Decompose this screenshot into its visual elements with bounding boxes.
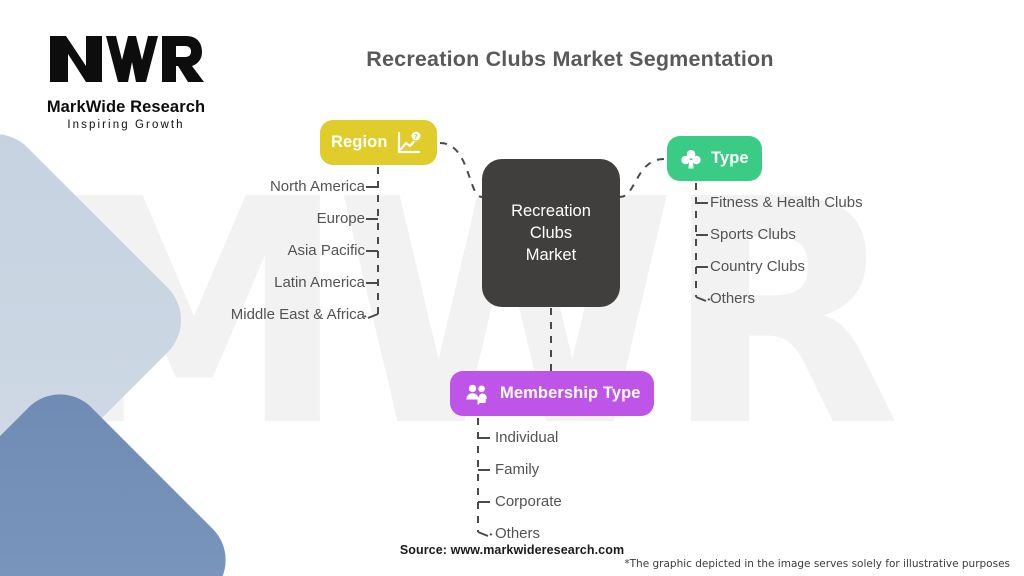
- list-item: Corporate: [495, 493, 562, 511]
- list-item: Individual: [495, 429, 558, 447]
- list-item: Middle East & Africa: [231, 306, 365, 324]
- center-node-line-3: Market: [511, 244, 591, 266]
- center-node-recreation-clubs-market[interactable]: Recreation Clubs Market: [482, 159, 620, 307]
- branch-node-membership-type[interactable]: Membership Type: [450, 371, 654, 416]
- list-item: Family: [495, 461, 539, 479]
- branch-node-membership-type-label: Membership Type: [500, 384, 641, 403]
- list-item: Others: [495, 525, 540, 543]
- branch-node-region-label: Region: [331, 133, 388, 152]
- list-item: Latin America: [274, 274, 365, 292]
- list-item: Others: [710, 290, 755, 308]
- center-node-line-2: Clubs: [511, 222, 591, 244]
- list-item: North America: [270, 178, 365, 196]
- list-item: Europe: [317, 210, 365, 228]
- leaf-list-region: North America Europe Asia Pacific Latin …: [180, 172, 365, 332]
- branch-node-region[interactable]: Region ?: [320, 120, 437, 165]
- center-node-line-1: Recreation: [511, 200, 591, 222]
- branch-node-type[interactable]: Type: [667, 136, 762, 181]
- list-item: Sports Clubs: [710, 226, 796, 244]
- leaf-list-type: Fitness & Health Clubs Sports Clubs Coun…: [710, 194, 930, 314]
- list-item: Asia Pacific: [287, 242, 365, 260]
- svg-text:?: ?: [414, 133, 418, 141]
- disclaimer-note: *The graphic depicted in the image serve…: [624, 558, 1010, 570]
- leaf-list-membership-type: Individual Family Corporate Others: [495, 429, 675, 549]
- chart-question-icon: ?: [397, 131, 423, 155]
- segmentation-diagram: Recreation Clubs Market Region ?: [0, 0, 1024, 576]
- source-attribution: Source: www.markwideresearch.com: [0, 543, 1024, 557]
- club-suit-icon: [680, 148, 702, 170]
- infographic-canvas: MWR MarkWide Research Inspiring Growth R…: [0, 0, 1024, 576]
- list-item: Country Clubs: [710, 258, 805, 276]
- list-item: Fitness & Health Clubs: [710, 194, 863, 212]
- users-icon: [465, 383, 491, 405]
- branch-node-type-label: Type: [711, 149, 749, 168]
